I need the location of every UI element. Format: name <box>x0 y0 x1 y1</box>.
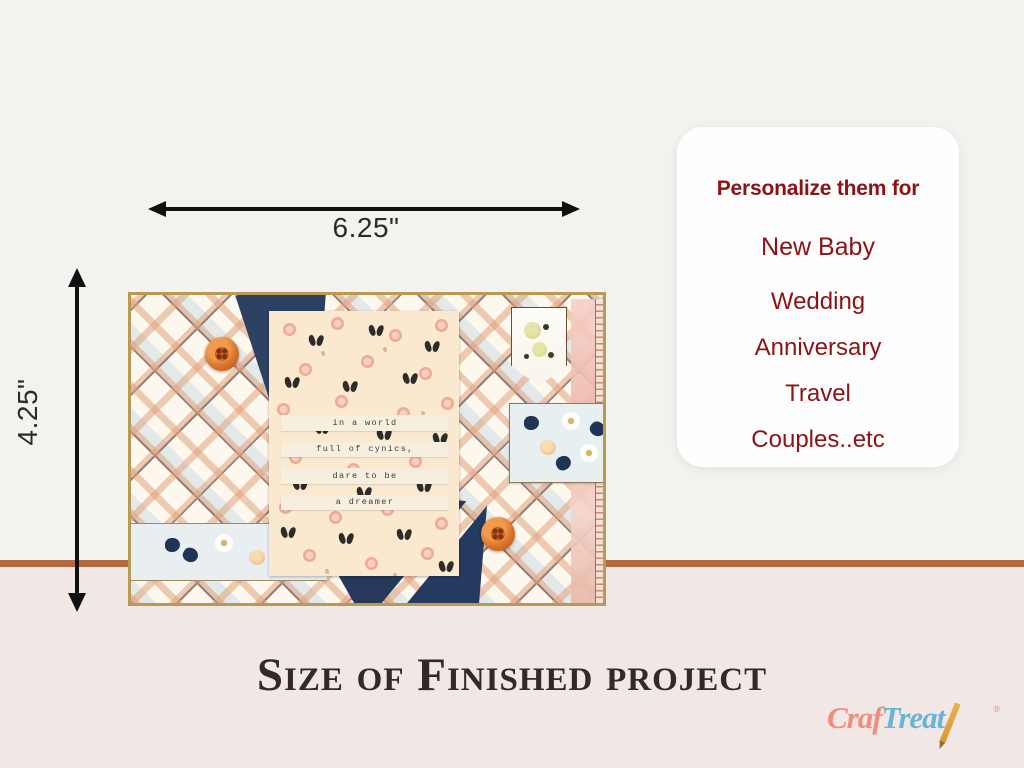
sentiment-line: in a world <box>281 415 449 431</box>
banner-dot <box>548 352 554 358</box>
project-composition: in a world full of cynics, dare to be a … <box>126 290 608 608</box>
orange-button-upper <box>205 337 239 371</box>
height-dimension-label: 4.25" <box>12 337 44 487</box>
personalize-option-new-baby: New Baby <box>677 235 959 260</box>
height-dimension-arrow <box>64 268 90 612</box>
orange-button-lower <box>481 517 515 551</box>
logo-text-craf: Craf <box>827 700 882 735</box>
daisy-icon <box>215 534 233 552</box>
navy-flower-icon <box>554 453 574 472</box>
personalize-panel: Personalize them for New Baby Wedding An… <box>677 127 959 467</box>
peach-flower-icon <box>540 440 556 455</box>
personalize-option-couples: Couples..etc <box>677 428 959 452</box>
logo-text-treat: Treat <box>882 700 945 735</box>
craftreat-logo: CrafTreat ® <box>827 700 1002 746</box>
personalize-option-wedding: Wedding <box>677 290 959 314</box>
logo-wordmark: CrafTreat <box>827 700 944 736</box>
width-dimension-label: 6.25" <box>281 212 451 244</box>
navy-flower-icon <box>181 545 201 565</box>
navy-flower-icon <box>165 538 180 552</box>
floral-side-panel <box>509 403 606 483</box>
sentiment-text-block: in a world full of cynics, dare to be a … <box>281 415 449 521</box>
card-front-panel: in a world full of cynics, dare to be a … <box>269 311 459 576</box>
banner-dot <box>524 354 529 359</box>
personalize-options-list: New Baby Wedding Anniversary Travel Coup… <box>677 235 959 474</box>
daisy-icon <box>580 444 598 462</box>
personalize-option-travel: Travel <box>677 382 959 406</box>
registered-trademark-icon: ® <box>993 704 1000 714</box>
navy-flower-icon <box>524 416 539 430</box>
personalize-panel-title: Personalize them for <box>677 177 959 201</box>
banner-dot <box>543 324 549 330</box>
banner-dot <box>524 322 541 339</box>
sentiment-line: full of cynics, <box>281 442 449 458</box>
sentiment-line: dare to be <box>281 468 449 484</box>
sentiment-line: a dreamer <box>281 495 449 511</box>
banner-dot <box>532 342 547 357</box>
card-base: in a world full of cynics, dare to be a … <box>128 292 606 606</box>
navy-flower-icon <box>587 419 606 439</box>
peach-flower-icon <box>249 550 265 565</box>
footer-heading: Size of Finished project <box>0 648 1024 702</box>
slide-canvas: 6.25" 4.25" <box>0 0 1024 768</box>
personalize-option-anniversary: Anniversary <box>677 336 959 360</box>
daisy-icon <box>562 412 580 430</box>
finished-project-image: in a world full of cynics, dare to be a … <box>126 290 608 608</box>
